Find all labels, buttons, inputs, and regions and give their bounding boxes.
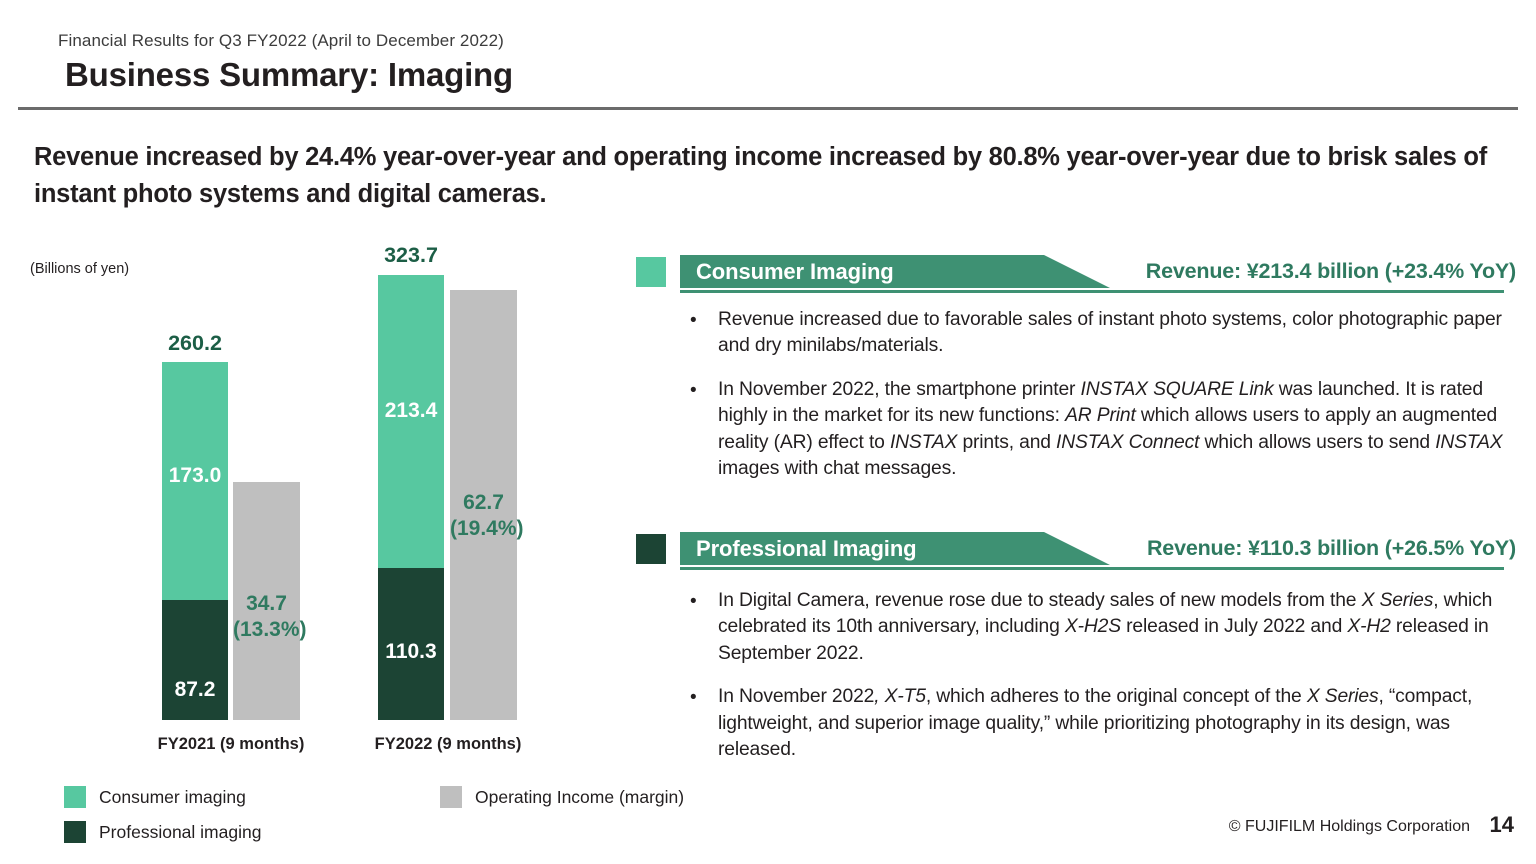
bullet-text: In November 2022, X-T5, which adheres to… (718, 686, 1472, 760)
section-header-consumer: Consumer Imaging Revenue: ¥213.4 billion… (636, 255, 1516, 291)
bar-value-oi-fy2021: 34.7 (233, 591, 300, 617)
category-label-fy2022: FY2022 (9 months) (357, 735, 539, 754)
bar-value-consumer-fy2021: 173.0 (162, 464, 228, 488)
bullet-dot-icon: • (690, 688, 697, 707)
page-title: Business Summary: Imaging (65, 56, 513, 94)
section-professional-imaging: Professional Imaging Revenue: ¥110.3 bil… (636, 532, 1516, 568)
bullet-text: Revenue increased due to favorable sales… (718, 309, 1502, 356)
legend-swatch-consumer (64, 786, 86, 808)
legend-swatch-operating-income (440, 786, 462, 808)
eyebrow-text: Financial Results for Q3 FY2022 (April t… (58, 31, 504, 51)
bar-fy2022-operating-income: 62.7 (19.4%) (450, 290, 517, 720)
bullet-dot-icon: • (690, 381, 697, 400)
legend-item-professional: Professional imaging (64, 821, 261, 843)
bar-value-professional-fy2022: 110.3 (378, 640, 444, 664)
list-item: • In November 2022, X-T5, which adheres … (650, 684, 1516, 763)
section-title-professional: Professional Imaging (696, 536, 917, 562)
bar-margin-oi-fy2021: (13.3%) (233, 617, 300, 643)
legend-swatch-professional (64, 821, 86, 843)
bar-total-fy2021: 260.2 (162, 331, 228, 356)
title-divider (18, 107, 1518, 110)
bullet-dot-icon: • (690, 311, 697, 330)
slide: Financial Results for Q3 FY2022 (April t… (0, 0, 1536, 864)
bullet-list-consumer: • Revenue increased due to favorable sal… (650, 307, 1516, 500)
bar-margin-oi-fy2022: (19.4%) (450, 516, 517, 542)
bar-value-oi-fy2022: 62.7 (450, 490, 517, 516)
chart-plot-area: 87.2 173.0 260.2 34.7 (13.3%) 110.3 213.… (0, 230, 620, 720)
section-metric-consumer: Revenue: ¥213.4 billion (+23.4% YoY) (1146, 259, 1516, 284)
section-swatch-professional (636, 534, 666, 564)
bar-fy2021-stacked: 87.2 173.0 260.2 (162, 362, 228, 720)
list-item: • In Digital Camera, revenue rose due to… (650, 588, 1516, 667)
lead-statement: Revenue increased by 24.4% year-over-yea… (34, 139, 1504, 213)
list-item: • In November 2022, the smartphone print… (650, 377, 1516, 483)
page-number: 14 (1490, 812, 1514, 838)
bullet-dot-icon: • (690, 592, 697, 611)
bar-total-fy2022: 323.7 (378, 243, 444, 268)
list-item: • Revenue increased due to favorable sal… (650, 307, 1516, 360)
category-label-fy2021: FY2021 (9 months) (140, 735, 322, 754)
section-header-professional: Professional Imaging Revenue: ¥110.3 bil… (636, 532, 1516, 568)
section-title-consumer: Consumer Imaging (696, 259, 894, 285)
bar-fy2021-operating-income: 34.7 (13.3%) (233, 482, 300, 720)
bar-fy2022-stacked: 110.3 213.4 323.7 (378, 275, 444, 720)
legend-label-consumer: Consumer imaging (99, 787, 246, 808)
bar-segment-consumer-fy2021: 173.0 (162, 362, 228, 600)
footer-copyright: © FUJIFILM Holdings Corporation (1229, 818, 1470, 836)
section-swatch-consumer (636, 257, 666, 287)
bar-segment-professional-fy2021: 87.2 (162, 600, 228, 720)
bar-segment-professional-fy2022: 110.3 (378, 568, 444, 720)
legend-label-professional: Professional imaging (99, 822, 261, 843)
imaging-bar-chart: (Billions of yen) 87.2 173.0 260.2 34.7 … (0, 230, 620, 770)
section-underline-professional (680, 567, 1504, 570)
section-consumer-imaging: Consumer Imaging Revenue: ¥213.4 billion… (636, 255, 1516, 291)
bullet-text: In Digital Camera, revenue rose due to s… (718, 590, 1492, 664)
legend-item-consumer: Consumer imaging (64, 786, 246, 808)
bar-value-consumer-fy2022: 213.4 (378, 399, 444, 423)
bullet-text: In November 2022, the smartphone printer… (718, 379, 1503, 479)
bullet-list-professional: • In Digital Camera, revenue rose due to… (650, 588, 1516, 781)
legend-item-operating-income: Operating Income (margin) (440, 786, 684, 808)
section-underline-consumer (680, 290, 1504, 293)
bar-segment-consumer-fy2022: 213.4 (378, 275, 444, 568)
legend-label-operating-income: Operating Income (margin) (475, 787, 684, 808)
bar-value-professional-fy2021: 87.2 (162, 678, 228, 702)
section-metric-professional: Revenue: ¥110.3 billion (+26.5% YoY) (1147, 536, 1516, 561)
